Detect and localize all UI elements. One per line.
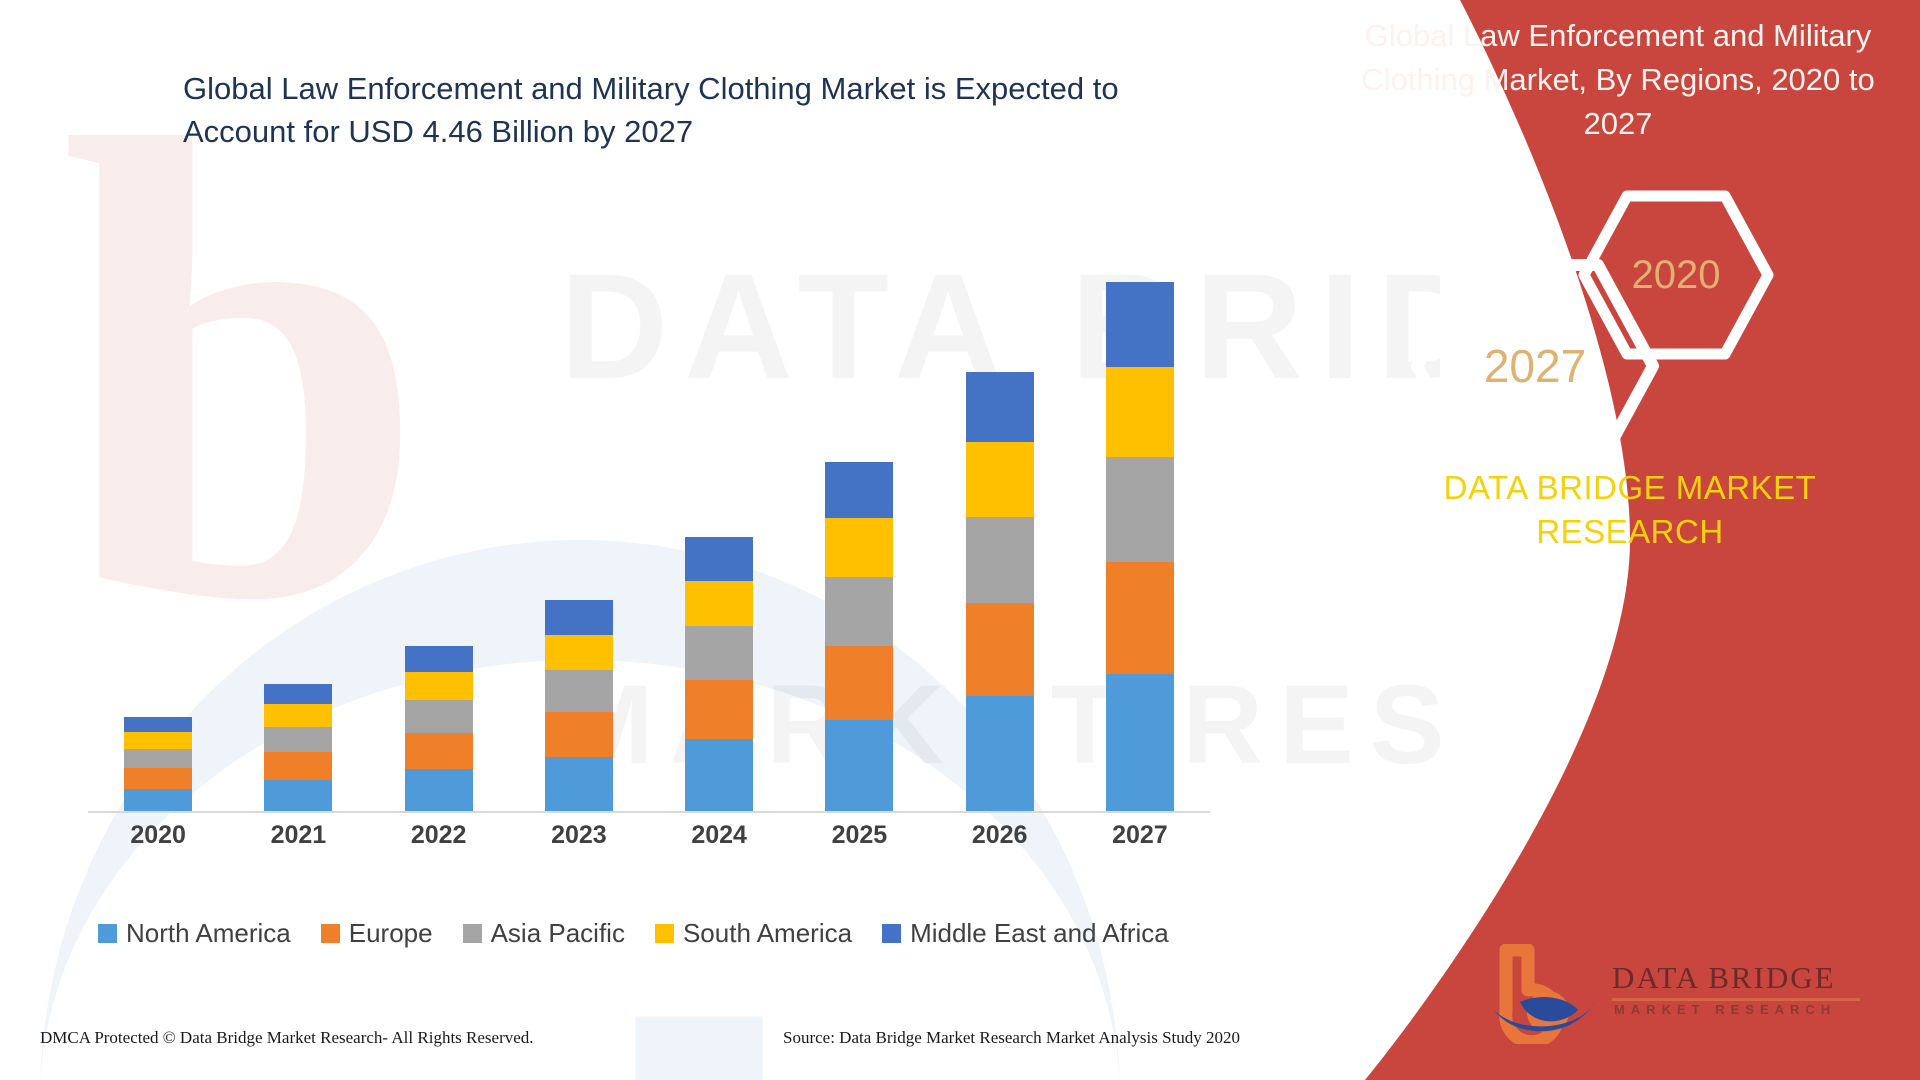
legend-label: Asia Pacific: [491, 918, 625, 949]
bar-segment: [966, 517, 1034, 603]
data-bridge-b-logo-icon: [1490, 944, 1602, 1044]
hexagon-2027: 2027: [1410, 258, 1660, 474]
x-tick-2021: 2021: [239, 821, 357, 850]
bar-segment: [825, 577, 893, 646]
bar-segment: [124, 717, 192, 732]
logo-tagline: MARKET RESEARCH: [1614, 1002, 1836, 1017]
bar-segment: [405, 769, 473, 813]
legend-swatch-icon: [98, 924, 117, 943]
x-axis-line: [88, 811, 1210, 813]
stacked-bar: [124, 717, 192, 813]
data-bridge-logo: DATA BRIDGE MARKET RESEARCH: [1490, 940, 1880, 1050]
dmca-notice: DMCA Protected © Data Bridge Market Rese…: [40, 1028, 534, 1048]
bar-segment: [825, 646, 893, 720]
bar-column-2026: [941, 255, 1059, 813]
x-tick-2025: 2025: [800, 821, 918, 850]
legend-label: Middle East and Africa: [910, 918, 1169, 949]
bar-segment: [405, 672, 473, 700]
bar-segment: [545, 757, 613, 813]
legend-swatch-icon: [321, 924, 340, 943]
legend-label: North America: [126, 918, 291, 949]
x-tick-2023: 2023: [520, 821, 638, 850]
panel-title: Global Law Enforcement and Military Clot…: [1360, 14, 1876, 146]
bar-column-2024: [660, 255, 778, 813]
legend-label: Europe: [349, 918, 433, 949]
bar-segment: [264, 780, 332, 813]
stacked-bar-chart: 20202021202220232024202520262027: [80, 255, 1240, 855]
footer: DMCA Protected © Data Bridge Market Rese…: [40, 1028, 1250, 1048]
chart-legend: North AmericaEuropeAsia PacificSouth Ame…: [98, 918, 1169, 949]
stacked-bar: [966, 372, 1034, 813]
bar-segment: [264, 704, 332, 727]
stacked-bar: [825, 462, 893, 813]
bar-segment: [825, 518, 893, 576]
bar-segment: [124, 732, 192, 749]
bar-segment: [124, 789, 192, 813]
brand-name: DATA BRIDGE MARKET RESEARCH: [1370, 466, 1890, 554]
bar-segment: [685, 680, 753, 738]
legend-swatch-icon: [882, 924, 901, 943]
infographic-canvas: b DATA BRIDGE MARKET RESEARCH Global Law…: [0, 0, 1920, 1080]
bar-segment: [825, 462, 893, 518]
bar-segment: [685, 739, 753, 813]
stacked-bar: [405, 646, 473, 813]
page-title: Global Law Enforcement and Military Clot…: [183, 68, 1143, 154]
logo-wordmark: DATA BRIDGE: [1612, 960, 1836, 996]
bar-segment: [966, 442, 1034, 516]
legend-swatch-icon: [463, 924, 482, 943]
bar-segment: [545, 712, 613, 757]
stacked-bar: [545, 600, 613, 813]
legend-swatch-icon: [655, 924, 674, 943]
hexagon-2027-label: 2027: [1410, 258, 1660, 474]
x-tick-2020: 2020: [99, 821, 217, 850]
bar-segment: [545, 600, 613, 635]
legend-item-south-america: South America: [655, 918, 852, 949]
legend-item-europe: Europe: [321, 918, 433, 949]
legend-item-north-america: North America: [98, 918, 291, 949]
bar-column-2021: [239, 255, 357, 813]
bar-segment: [264, 752, 332, 780]
hexagon-group: 2020 2027: [1410, 190, 1850, 410]
bar-column-2020: [99, 255, 217, 813]
bar-segment: [264, 727, 332, 752]
chart-plot-area: [88, 255, 1210, 813]
bar-column-2022: [380, 255, 498, 813]
bar-segment: [825, 720, 893, 813]
bar-segment: [966, 603, 1034, 696]
right-panel: Global Law Enforcement and Military Clot…: [1160, 0, 1920, 1080]
bar-segment: [124, 749, 192, 768]
legend-label: South America: [683, 918, 852, 949]
bar-segment: [685, 626, 753, 680]
x-axis-tick-labels: 20202021202220232024202520262027: [88, 815, 1210, 855]
bar-segment: [124, 768, 192, 789]
bar-segment: [264, 684, 332, 704]
bar-segment: [685, 537, 753, 581]
bar-segment: [545, 635, 613, 670]
bar-segment: [685, 581, 753, 626]
bar-segment: [405, 733, 473, 769]
bar-column-2025: [800, 255, 918, 813]
bar-segment: [545, 670, 613, 713]
bar-segment: [966, 372, 1034, 442]
legend-item-middle-east-and-africa: Middle East and Africa: [882, 918, 1169, 949]
bar-segment: [405, 646, 473, 673]
x-tick-2022: 2022: [380, 821, 498, 850]
bar-segment: [966, 696, 1034, 813]
stacked-bar: [685, 537, 753, 813]
bar-column-2023: [520, 255, 638, 813]
x-tick-2026: 2026: [941, 821, 1059, 850]
bar-segment: [405, 700, 473, 733]
stacked-bar: [264, 684, 332, 813]
logo-divider: [1612, 998, 1860, 1001]
legend-item-asia-pacific: Asia Pacific: [463, 918, 625, 949]
x-tick-2024: 2024: [660, 821, 778, 850]
